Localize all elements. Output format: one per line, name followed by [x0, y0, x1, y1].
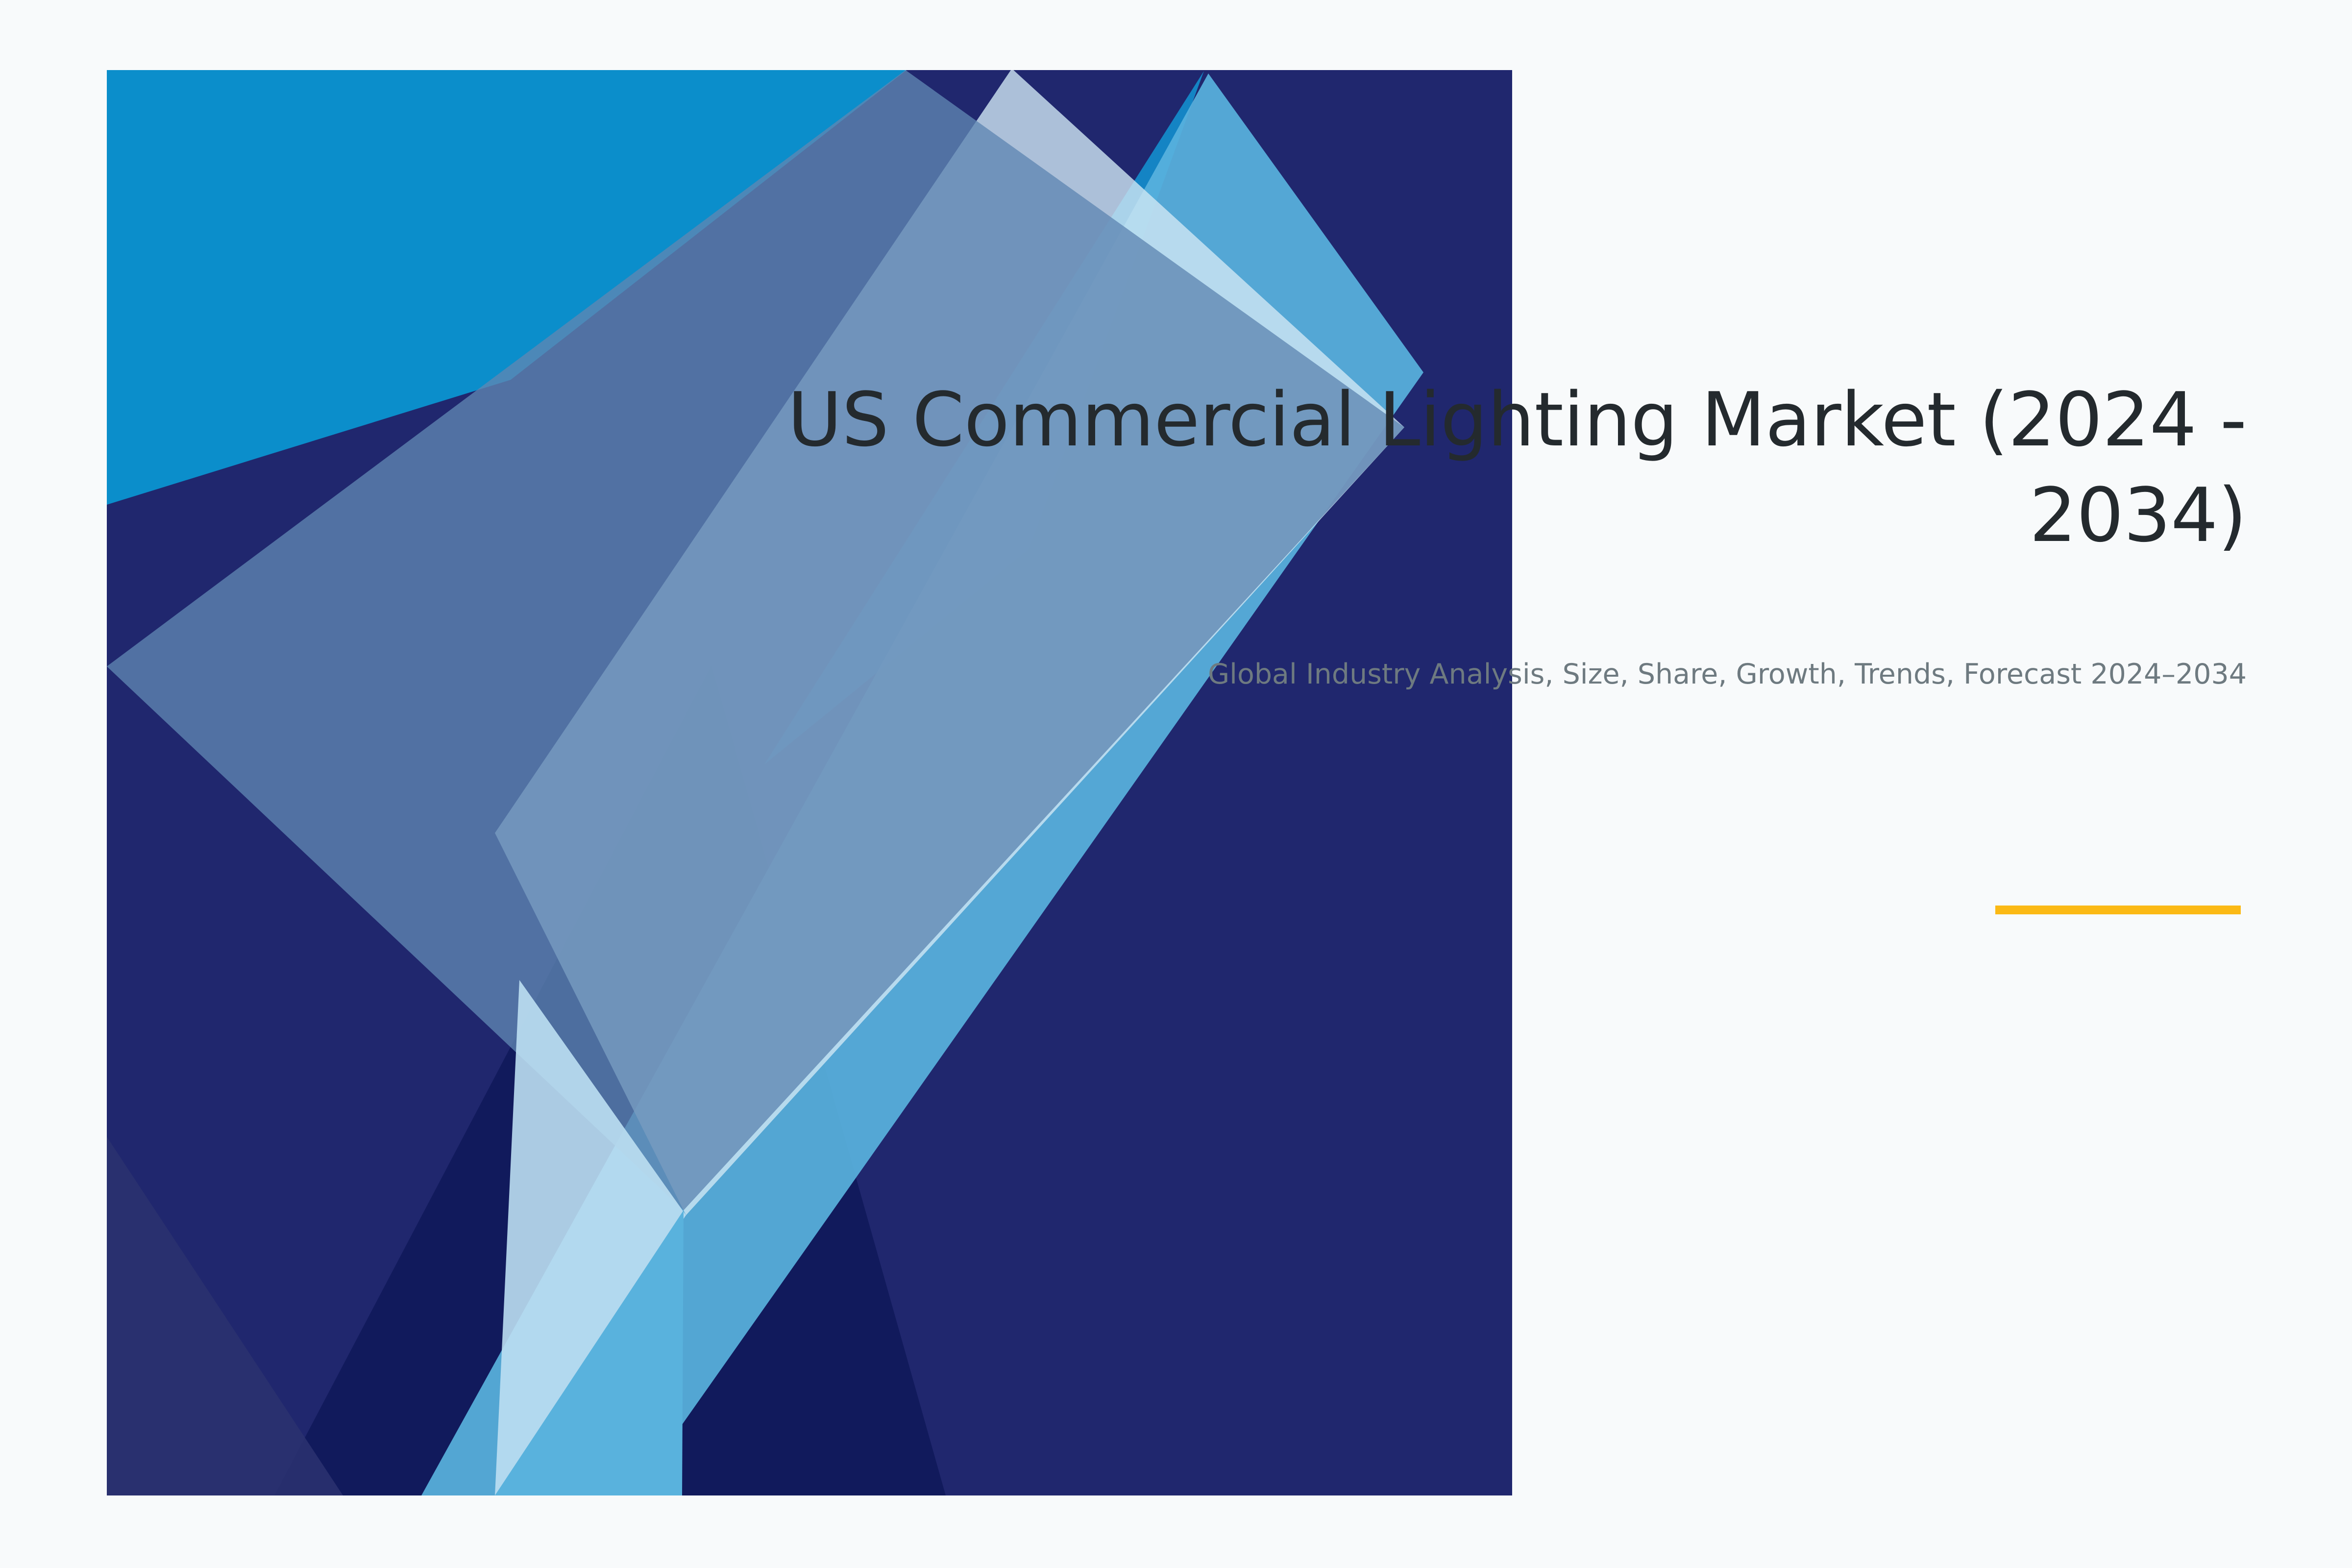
shape-pale-blue-lower	[495, 980, 686, 1495]
page-subtitle: Global Industry Analysis, Size, Share, G…	[1071, 656, 2247, 693]
cover-slide: US Commercial Lighting Market (2024 - 20…	[0, 0, 2352, 1568]
page-title: US Commercial Lighting Market (2024 - 20…	[777, 372, 2247, 563]
shape-sky-blue-lower-wedge	[495, 1210, 684, 1495]
abstract-angular-banner	[0, 0, 2352, 1568]
shape-pale-blue-quad	[495, 69, 1404, 1215]
shape-steel-blue-quad	[107, 70, 1404, 1210]
shape-cyan-base	[107, 70, 1512, 1495]
shape-navy-field	[107, 70, 1512, 1495]
shape-sky-blue-band	[421, 73, 1423, 1495]
shape-navy-sliver-left	[107, 1137, 343, 1495]
title-accent-underline	[1995, 906, 2241, 914]
shape-deep-navy-spike	[274, 665, 946, 1495]
cover-text-block: US Commercial Lighting Market (2024 - 20…	[777, 372, 2247, 563]
